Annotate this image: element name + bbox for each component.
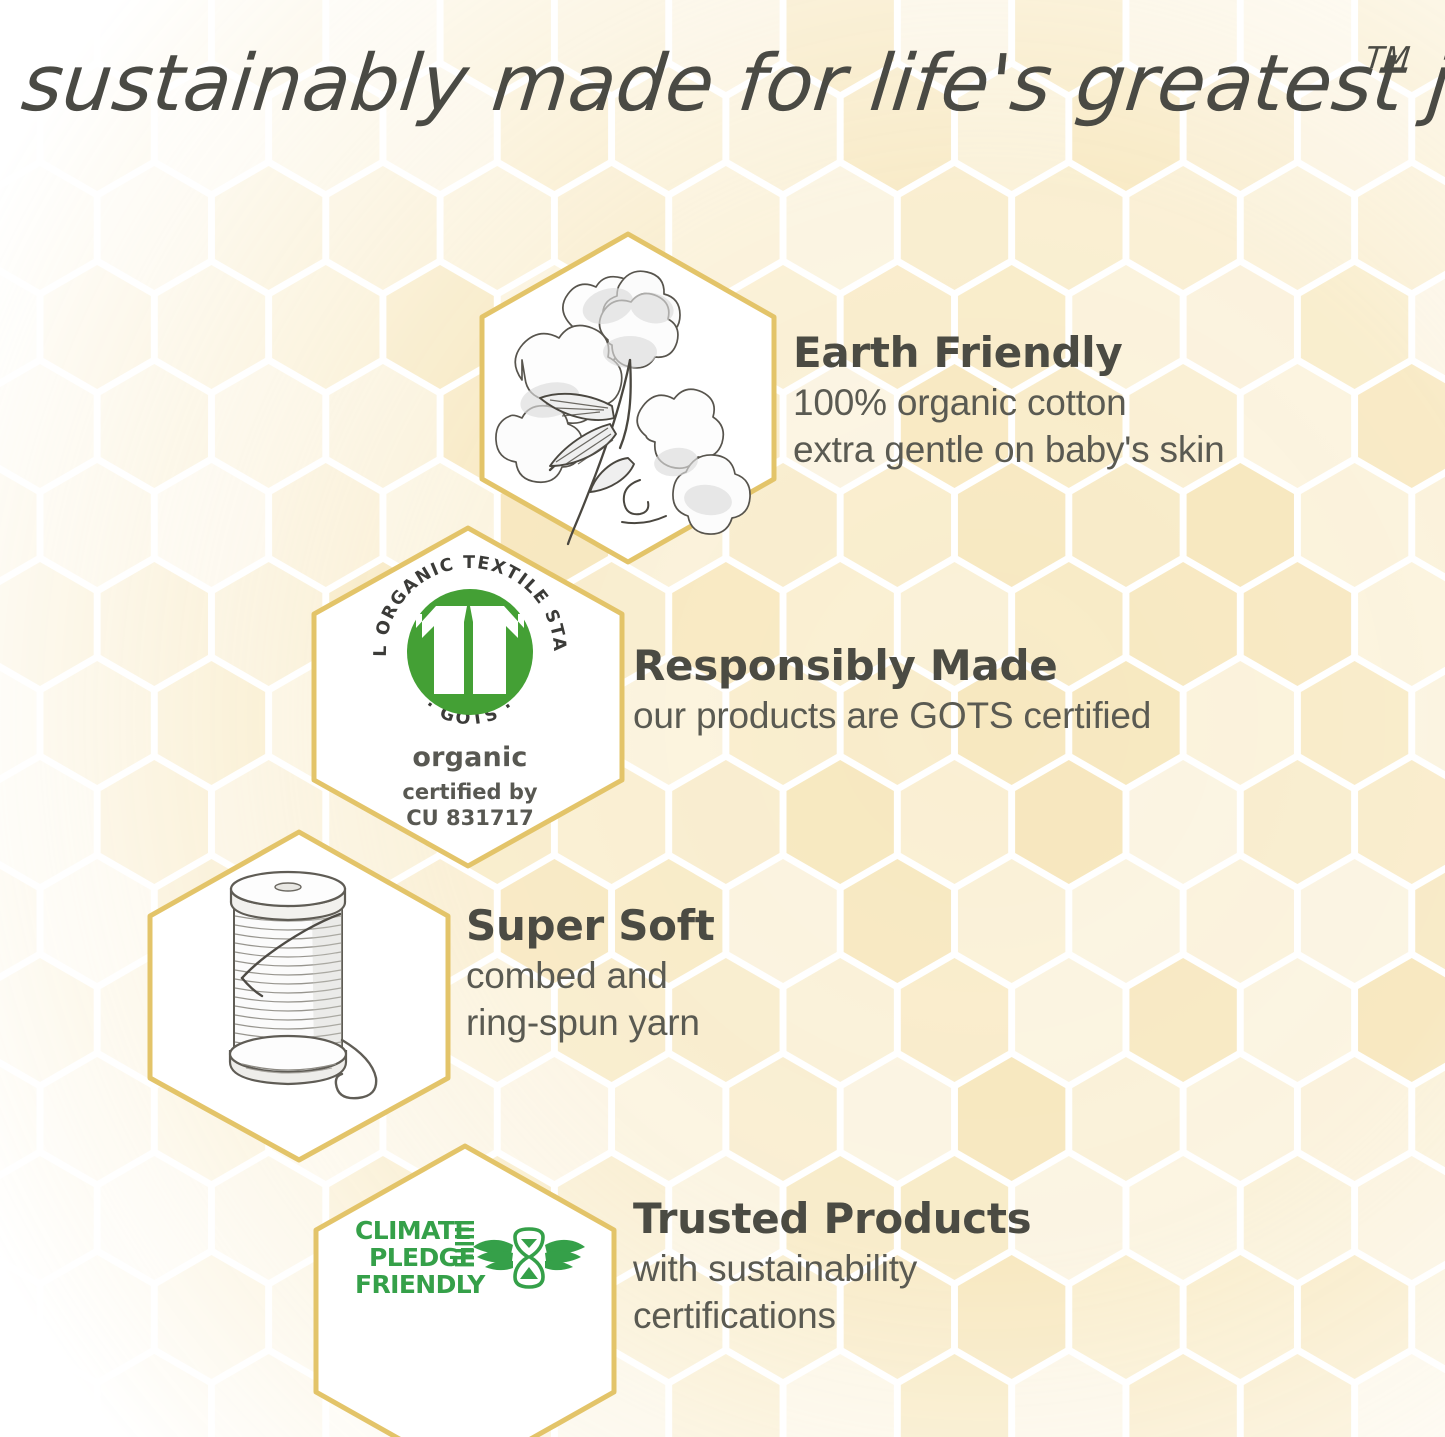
honeycomb-cell xyxy=(1301,661,1408,785)
honeycomb-cell xyxy=(1187,67,1294,191)
honeycomb-cell xyxy=(1129,0,1236,92)
feature-copy-super-soft: Super Soft combed and ring-spun yarn xyxy=(466,904,715,1046)
honeycomb-cell xyxy=(1358,1156,1445,1280)
honeycomb-cell xyxy=(558,0,665,92)
honeycomb-cell xyxy=(729,1057,836,1181)
honeycomb-cell xyxy=(1301,67,1408,191)
honeycomb-cell xyxy=(1129,958,1236,1082)
honeycomb-cell xyxy=(101,562,208,686)
feature-line-1: with sustainability xyxy=(633,1246,1031,1293)
honeycomb-cell xyxy=(43,265,150,389)
honeycomb-cell xyxy=(158,463,265,587)
honeycomb-cell xyxy=(672,0,779,92)
honeycomb-cell xyxy=(215,364,322,488)
honeycomb-cell xyxy=(1015,0,1122,92)
honeycomb-cell xyxy=(101,364,208,488)
honeycomb-cell xyxy=(1072,1255,1179,1379)
wing-left xyxy=(473,1240,513,1270)
feature-copy-responsibly-made: Responsibly Made our products are GOTS c… xyxy=(633,644,1151,740)
honeycomb-cell xyxy=(1072,463,1179,587)
honeycomb-cell xyxy=(1244,166,1351,290)
feature-line-2: extra gentle on baby's skin xyxy=(793,427,1225,474)
thread-spool-illustration xyxy=(190,862,420,1102)
honeycomb-cell xyxy=(43,67,150,191)
honeycomb-cell xyxy=(1015,760,1122,884)
honeycomb-cell xyxy=(1015,958,1122,1082)
honeycomb-cell xyxy=(1129,1156,1236,1280)
honeycomb-cell xyxy=(501,67,608,191)
honeycomb-cell xyxy=(1187,859,1294,983)
honeycomb-cell xyxy=(1244,364,1351,488)
honeycomb-cell xyxy=(1072,859,1179,983)
honeycomb-cell xyxy=(0,760,94,884)
feature-title: Earth Friendly xyxy=(793,331,1225,376)
honeycomb-cell xyxy=(786,958,893,1082)
honeycomb-cell xyxy=(1015,166,1122,290)
feature-title: Responsibly Made xyxy=(633,644,1151,689)
feature-line-1: 100% organic cotton xyxy=(793,380,1225,427)
honeycomb-cell xyxy=(1244,1156,1351,1280)
honeycomb-cell xyxy=(1358,562,1445,686)
gots-certification-logo: GLOBAL ORGANIC TEXTILE STANDARD · GOTS ·… xyxy=(352,556,588,734)
honeycomb-cell xyxy=(272,265,379,389)
honeycomb-cell xyxy=(101,166,208,290)
feature-copy-earth-friendly: Earth Friendly 100% organic cotton extra… xyxy=(793,331,1225,473)
honeycomb-cell xyxy=(0,958,94,1082)
honeycomb-cell xyxy=(43,463,150,587)
honeycomb-cell xyxy=(844,859,951,983)
honeycomb-cell xyxy=(1244,0,1351,92)
feature-line-2: certifications xyxy=(633,1293,1031,1340)
honeycomb-cell xyxy=(901,166,1008,290)
honeycomb-cell xyxy=(901,0,1008,92)
honeycomb-cell xyxy=(0,364,94,488)
honeycomb-cell xyxy=(958,67,1065,191)
gots-green-disc xyxy=(407,589,533,715)
honeycomb-cell xyxy=(1358,958,1445,1082)
gots-caption-organic: organic xyxy=(352,742,588,773)
infographic-canvas: sustainably made for life's greatest joy… xyxy=(0,0,1445,1437)
wing-right xyxy=(545,1240,585,1270)
winged-hourglass-icon xyxy=(473,1229,585,1287)
honeycomb-cell xyxy=(0,1156,94,1280)
honeycomb-cell xyxy=(1072,1057,1179,1181)
honeycomb-cell xyxy=(272,67,379,191)
feature-line-2: ring-spun yarn xyxy=(466,1000,715,1047)
honeycomb-cell xyxy=(901,958,1008,1082)
honeycomb-cell xyxy=(1129,166,1236,290)
feature-line-1: combed and xyxy=(466,953,715,1000)
honeycomb-cell xyxy=(1244,958,1351,1082)
honeycomb-cell xyxy=(43,1255,150,1379)
feature-title: Super Soft xyxy=(466,904,715,949)
honeycomb-cell xyxy=(1187,1057,1294,1181)
honeycomb-cell xyxy=(1358,364,1445,488)
honeycomb-cell xyxy=(1301,265,1408,389)
honeycomb-cell xyxy=(958,463,1065,587)
honeycomb-cell xyxy=(1358,760,1445,884)
honeycomb-cell xyxy=(615,1057,722,1181)
honeycomb-cell xyxy=(958,1057,1065,1181)
feature-copy-trusted-products: Trusted Products with sustainability cer… xyxy=(633,1197,1031,1339)
honeycomb-cell xyxy=(0,166,94,290)
cpf-line-3: FRIENDLY xyxy=(355,1270,486,1299)
honeycomb-cell xyxy=(786,166,893,290)
honeycomb-cell xyxy=(844,67,951,191)
honeycomb-cell xyxy=(615,67,722,191)
honeycomb-cell xyxy=(958,859,1065,983)
honeycomb-cell xyxy=(215,0,322,92)
feature-line-1: our products are GOTS certified xyxy=(633,693,1151,740)
honeycomb-cell xyxy=(844,463,951,587)
cpf-line-1: CLIMATE xyxy=(355,1216,471,1245)
honeycomb-cell xyxy=(1244,562,1351,686)
honeycomb-cell xyxy=(329,364,436,488)
honeycomb-cell xyxy=(786,760,893,884)
cotton-branch-illustration xyxy=(480,248,780,548)
honeycomb-cell xyxy=(1301,859,1408,983)
honeycomb-cell xyxy=(101,1156,208,1280)
honeycomb-cell xyxy=(1301,1057,1408,1181)
honeycomb-cell xyxy=(1129,760,1236,884)
honeycomb-cell xyxy=(844,1057,951,1181)
honeycomb-cell xyxy=(158,67,265,191)
honeycomb-cell xyxy=(729,67,836,191)
gots-caption-certified-by: certified by xyxy=(352,780,588,806)
honeycomb-cell xyxy=(444,0,551,92)
honeycomb-cell xyxy=(1244,760,1351,884)
honeycomb-cell xyxy=(1187,1255,1294,1379)
honeycomb-cell xyxy=(158,661,265,785)
honeycomb-cell xyxy=(1358,166,1445,290)
honeycomb-cell xyxy=(329,0,436,92)
honeycomb-cell xyxy=(1301,463,1408,587)
honeycomb-cell xyxy=(158,265,265,389)
honeycomb-cell xyxy=(215,166,322,290)
honeycomb-cell xyxy=(729,859,836,983)
honeycomb-cell xyxy=(1187,463,1294,587)
honeycomb-cell xyxy=(43,661,150,785)
honeycomb-cell xyxy=(329,166,436,290)
honeycomb-cell xyxy=(158,1255,265,1379)
honeycomb-cell xyxy=(101,0,208,92)
honeycomb-cell xyxy=(672,760,779,884)
honeycomb-cell xyxy=(901,760,1008,884)
climate-pledge-friendly-logo: CLIMATE PLEDGE FRIENDLY xyxy=(355,1215,595,1307)
honeycomb-cell xyxy=(1072,67,1179,191)
honeycomb-cell xyxy=(1301,1255,1408,1379)
honeycomb-cell xyxy=(786,0,893,92)
honeycomb-cell xyxy=(1187,661,1294,785)
feature-title: Trusted Products xyxy=(633,1197,1031,1242)
honeycomb-cell xyxy=(0,562,94,686)
honeycomb-cell xyxy=(386,67,493,191)
